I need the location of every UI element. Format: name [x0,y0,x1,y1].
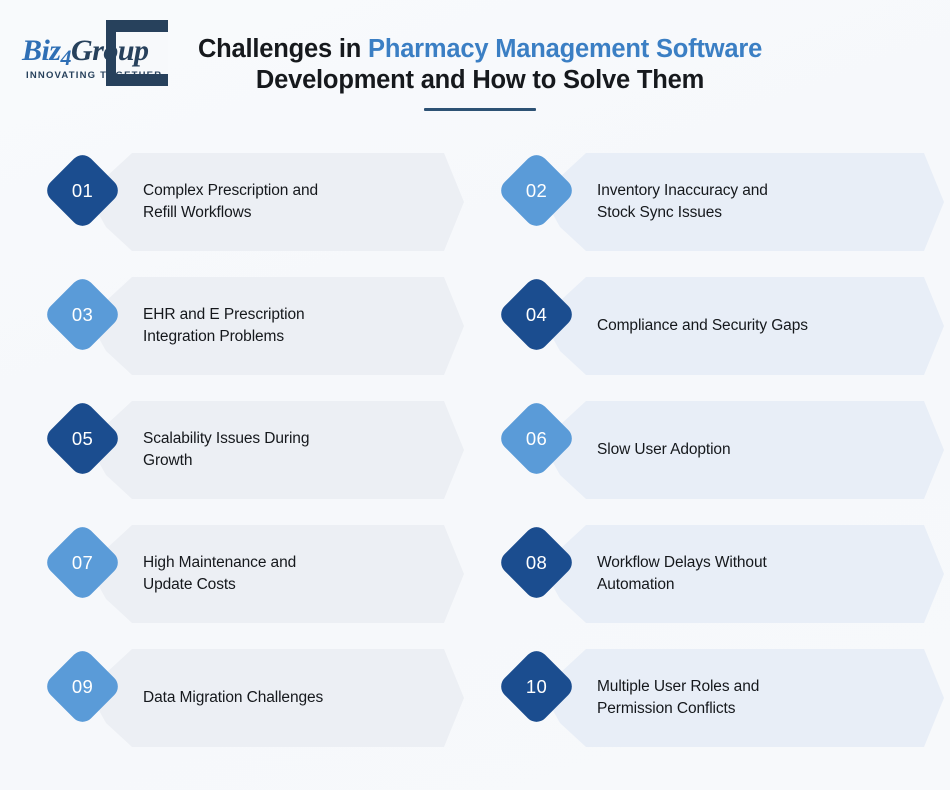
title-underline-rule [424,108,536,111]
header: Biz4Group INNOVATING TOGETHER Challenges… [0,0,950,140]
item-label-line-1: Data Migration Challenges [143,687,443,709]
item-label-line-2: Automation [597,574,897,596]
infographic-page: Biz4Group INNOVATING TOGETHER Challenges… [0,0,950,790]
item-label-line-1: Complex Prescription and [143,180,443,202]
logo-tagline: INNOVATING TOGETHER [26,70,162,81]
list-item[interactable]: 08 Workflow Delays Without Automation [496,525,916,623]
list-item[interactable]: 03 EHR and E Prescription Integration Pr… [42,277,462,375]
item-label-line-1: Workflow Delays Without [597,552,897,574]
item-label: Scalability Issues During Growth [143,401,443,499]
item-number: 09 [54,658,111,715]
item-label: High Maintenance and Update Costs [143,525,443,623]
list-item[interactable]: 07 High Maintenance and Update Costs [42,525,462,623]
item-label-line-2: Permission Conflicts [597,698,897,720]
item-label: EHR and E Prescription Integration Probl… [143,277,443,375]
list-item[interactable]: 04 Compliance and Security Gaps [496,277,916,375]
item-number: 05 [54,410,111,467]
item-number: 10 [508,658,565,715]
item-label-line-1: EHR and E Prescription [143,304,443,326]
logo-word-biz: Biz [22,34,61,67]
page-title-highlight: Pharmacy Management Software [368,35,762,63]
item-number: 01 [54,162,111,219]
list-item[interactable]: 10 Multiple User Roles and Permission Co… [496,649,916,747]
item-number: 08 [508,534,565,591]
item-label: Workflow Delays Without Automation [597,525,897,623]
brand-logo: Biz4Group INNOVATING TOGETHER [18,18,178,90]
item-label-line-2: Stock Sync Issues [597,202,897,224]
page-title-line-1: Challenges in Pharmacy Management Softwa… [190,34,770,65]
item-label: Multiple User Roles and Permission Confl… [597,649,897,747]
list-item[interactable]: 06 Slow User Adoption [496,401,916,499]
list-item[interactable]: 05 Scalability Issues During Growth [42,401,462,499]
item-number: 02 [508,162,565,219]
item-label-line-1: High Maintenance and [143,552,443,574]
item-number: 03 [54,286,111,343]
item-number: 07 [54,534,111,591]
item-label-line-1: Compliance and Security Gaps [597,315,897,337]
page-title-line-2: Development and How to Solve Them [190,65,770,96]
item-number: 06 [508,410,565,467]
list-item[interactable]: 01 Complex Prescription and Refill Workf… [42,153,462,251]
item-label-line-1: Slow User Adoption [597,439,897,461]
item-label-line-1: Scalability Issues During [143,428,443,450]
list-item[interactable]: 02 Inventory Inaccuracy and Stock Sync I… [496,153,916,251]
item-label-line-2: Refill Workflows [143,202,443,224]
item-label: Slow User Adoption [597,401,897,499]
logo-wordmark: Biz4Group [22,34,149,68]
item-number: 04 [508,286,565,343]
item-label: Compliance and Security Gaps [597,277,897,375]
item-label-line-1: Multiple User Roles and [597,676,897,698]
page-title: Challenges in Pharmacy Management Softwa… [190,34,770,111]
item-label: Complex Prescription and Refill Workflow… [143,153,443,251]
item-label-line-2: Integration Problems [143,326,443,348]
item-label-line-2: Growth [143,450,443,472]
logo-word-digit: 4 [61,45,72,70]
item-label-line-2: Update Costs [143,574,443,596]
list-item[interactable]: 09 Data Migration Challenges [42,649,462,747]
item-label: Inventory Inaccuracy and Stock Sync Issu… [597,153,897,251]
item-label: Data Migration Challenges [143,649,443,747]
logo-word-group: Group [71,34,149,67]
item-label-line-1: Inventory Inaccuracy and [597,180,897,202]
challenge-list: 01 Complex Prescription and Refill Workf… [0,146,950,776]
page-title-plain: Challenges in [198,35,368,63]
